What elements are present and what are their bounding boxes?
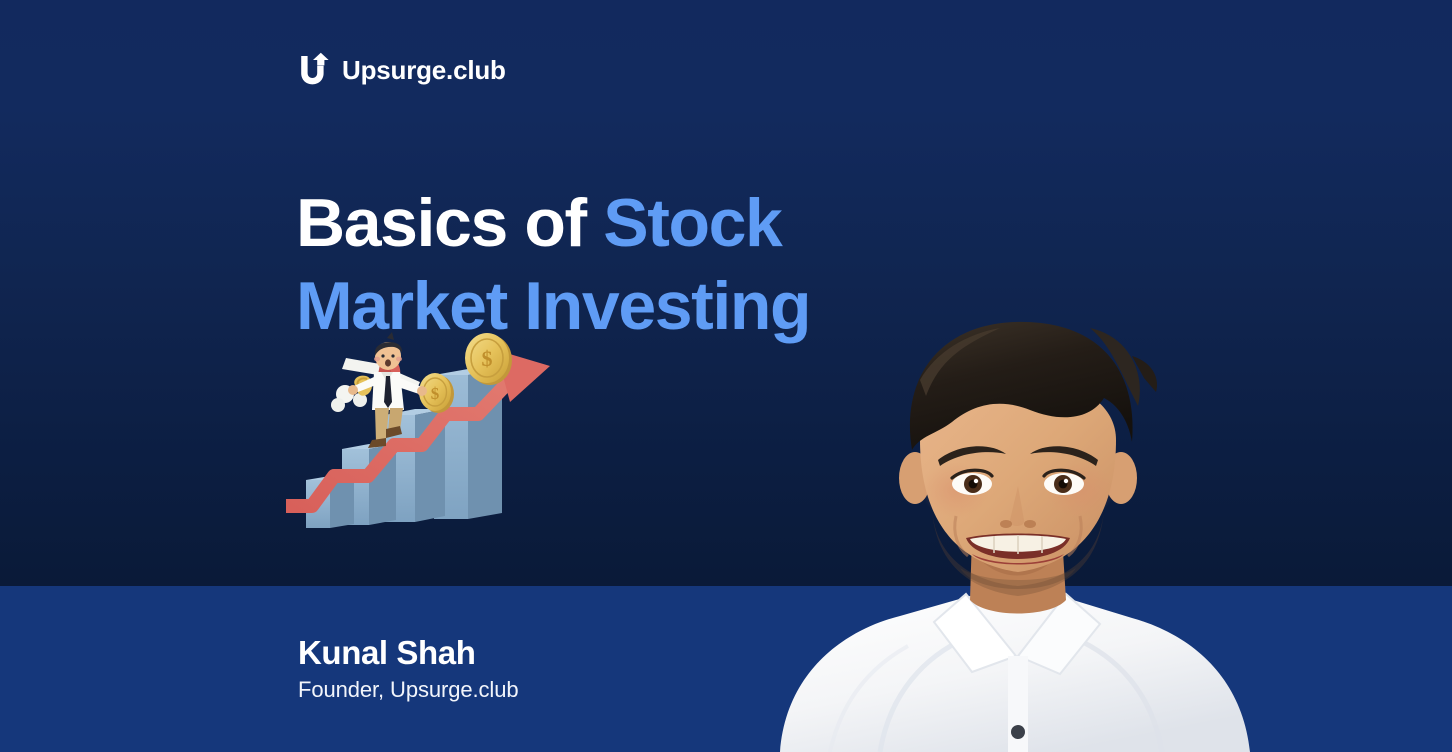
svg-text:$: $	[482, 346, 493, 371]
upsurge-u-arrow-logo-icon	[298, 52, 332, 88]
speaker-headshot	[760, 300, 1260, 752]
brand-name: Upsurge.club	[342, 57, 506, 83]
svg-text:$: $	[431, 384, 440, 403]
growth-chart-businessman-jetpack-illustration: $ $	[282, 330, 574, 542]
promo-banner: Upsurge.club Basics of StockMarket Inves…	[0, 0, 1452, 752]
title-line1-plain: Basics of	[296, 185, 603, 261]
speaker-name: Kunal Shah	[298, 634, 518, 673]
speaker-role: Founder, Upsurge.club	[298, 677, 518, 703]
title-line1-accent: Stock	[603, 185, 781, 261]
brand-logo[interactable]: Upsurge.club	[298, 52, 506, 88]
speaker-block: Kunal Shah Founder, Upsurge.club	[298, 634, 518, 703]
